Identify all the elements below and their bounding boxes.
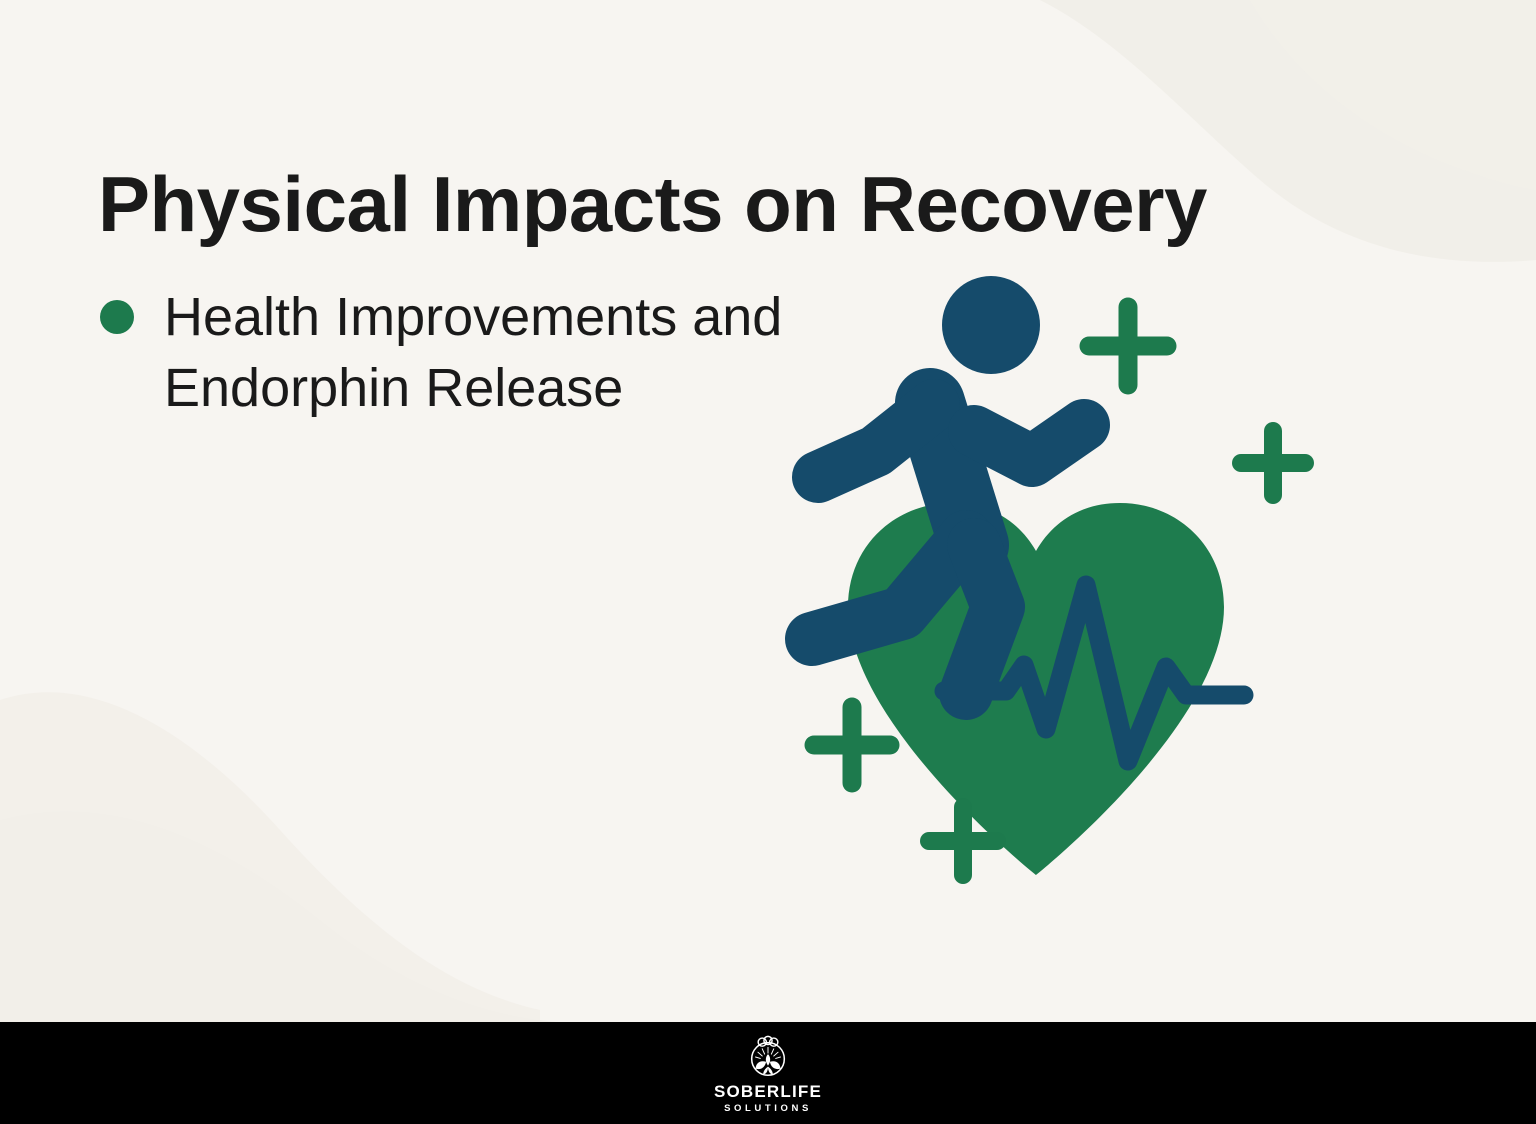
medical-cross-icon-top <box>1089 307 1167 385</box>
soberlife-logo-icon <box>744 1033 792 1081</box>
bullet-dot-icon <box>100 300 134 334</box>
footer-brand-name: SOBERLIFE <box>714 1083 822 1100</box>
footer-bar: SOBERLIFE SOLUTIONS <box>0 1022 1536 1124</box>
blob-top-right-2 <box>1250 0 1536 190</box>
footer-brand-tagline: SOLUTIONS <box>724 1104 812 1114</box>
slide-canvas: Physical Impacts on Recovery Health Impr… <box>0 0 1536 1124</box>
medical-cross-icon-right <box>1241 431 1305 495</box>
illustration-runner-heart <box>716 255 1356 915</box>
medical-cross-icon-left <box>814 707 890 783</box>
page-title: Physical Impacts on Recovery <box>98 164 1428 246</box>
